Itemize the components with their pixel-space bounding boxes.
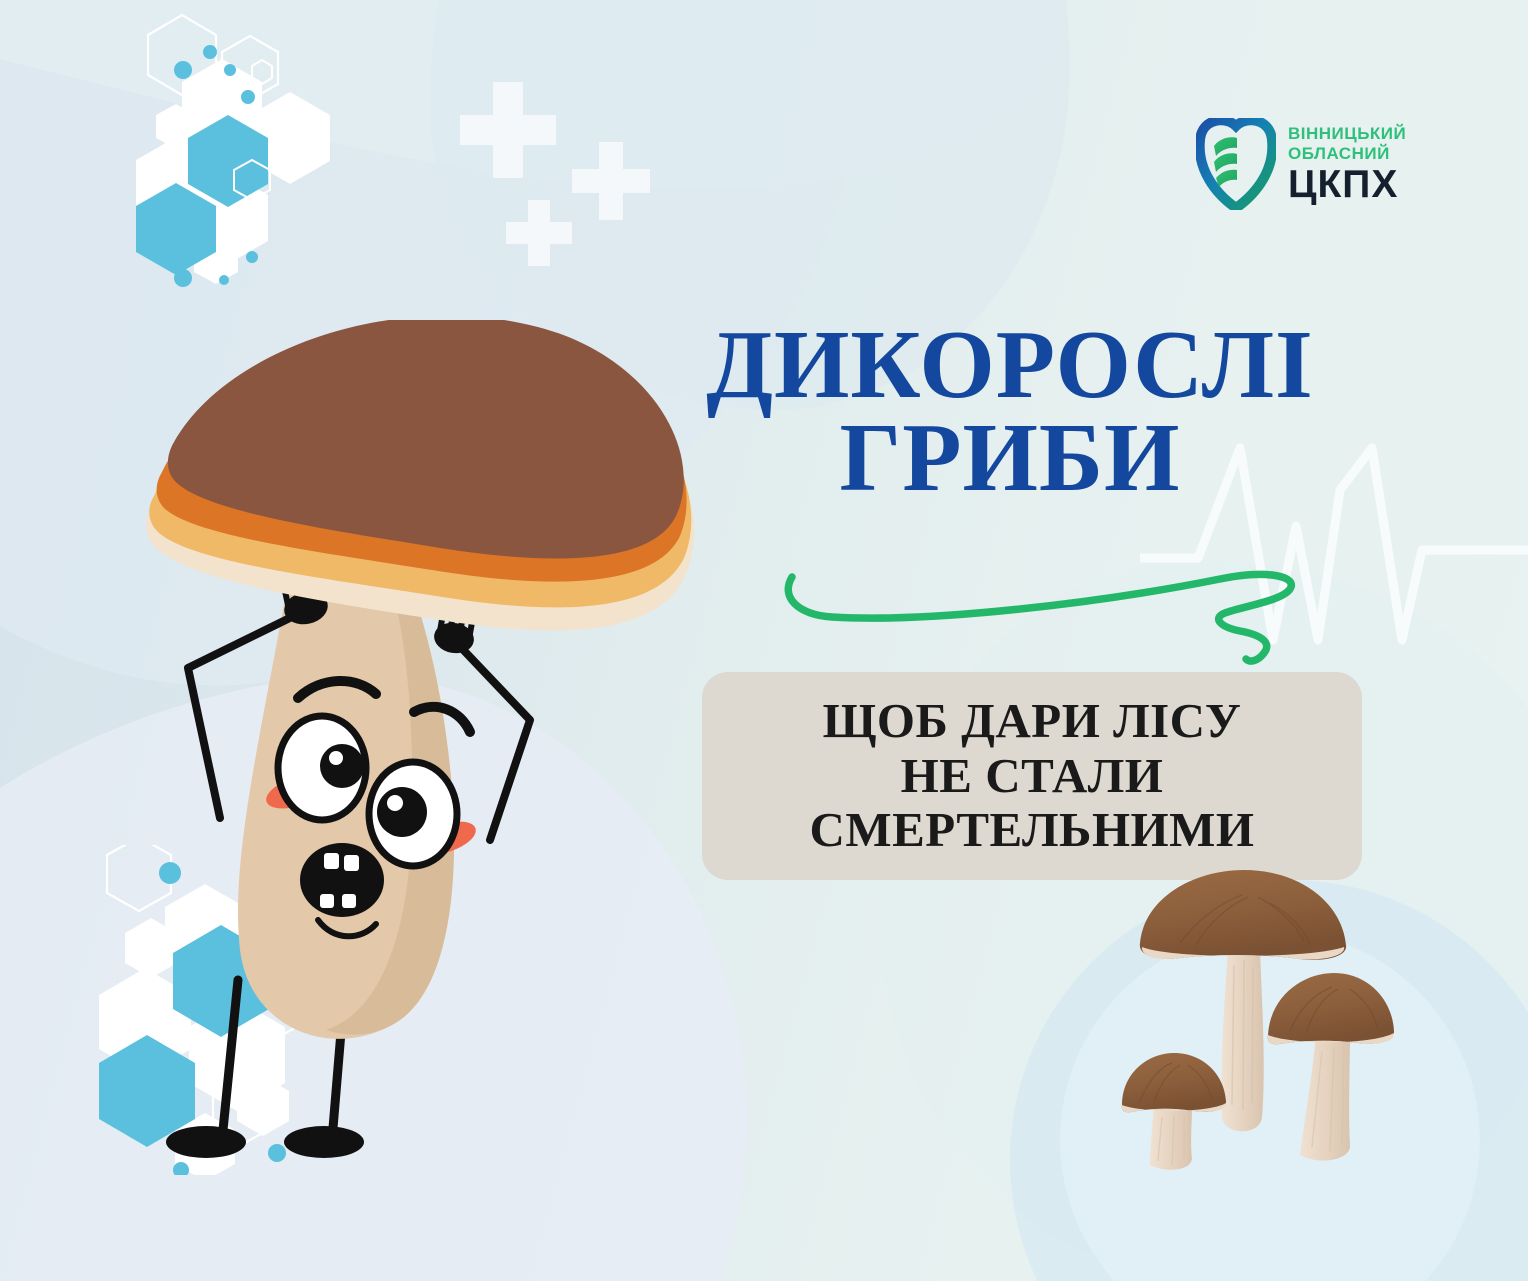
logo-line-1: ВІННИЦЬКИЙ	[1288, 125, 1406, 142]
subtitle-card: ЩОБ ДАРИ ЛІСУ НЕ СТАЛИ СМЕРТЕЛЬНИМИ	[702, 672, 1362, 880]
logo-line-2: ОБЛАСНИЙ	[1288, 145, 1406, 162]
logo[interactable]: ВІННИЦЬКИЙ ОБЛАСНИЙ ЦКПХ	[1196, 118, 1406, 210]
medical-cross-icon-medium	[572, 142, 650, 220]
subtitle-line-3: СМЕРТЕЛЬНИМИ	[809, 803, 1254, 858]
logo-text: ВІННИЦЬКИЙ ОБЛАСНИЙ ЦКПХ	[1288, 125, 1406, 204]
subtitle-line-2: НЕ СТАЛИ	[809, 749, 1254, 804]
worried-mushroom-character-icon	[110, 320, 750, 1200]
subtitle-text: ЩОБ ДАРИ ЛІСУ НЕ СТАЛИ СМЕРТЕЛЬНИМИ	[809, 694, 1254, 859]
medical-cross-icon-large	[460, 82, 556, 178]
title-line-2: ГРИБИ	[640, 411, 1380, 504]
page-title: ДИКОРОСЛІ ГРИБИ	[640, 318, 1380, 504]
subtitle-line-1: ЩОБ ДАРИ ЛІСУ	[809, 694, 1254, 749]
poster-canvas: ВІННИЦЬКИЙ ОБЛАСНИЙ ЦКПХ ДИКОРОСЛІ ГРИБИ…	[0, 0, 1528, 1281]
title-line-1: ДИКОРОСЛІ	[706, 311, 1314, 418]
medical-cross-icon-small	[506, 200, 572, 266]
three-brown-mushrooms-icon	[1110, 855, 1440, 1200]
logo-line-3: ЦКПХ	[1288, 165, 1406, 204]
green-underline-swoosh-icon	[770, 545, 1340, 665]
shield-heart-icon	[1196, 118, 1276, 210]
hexagon-cluster-icon	[100, 10, 400, 310]
